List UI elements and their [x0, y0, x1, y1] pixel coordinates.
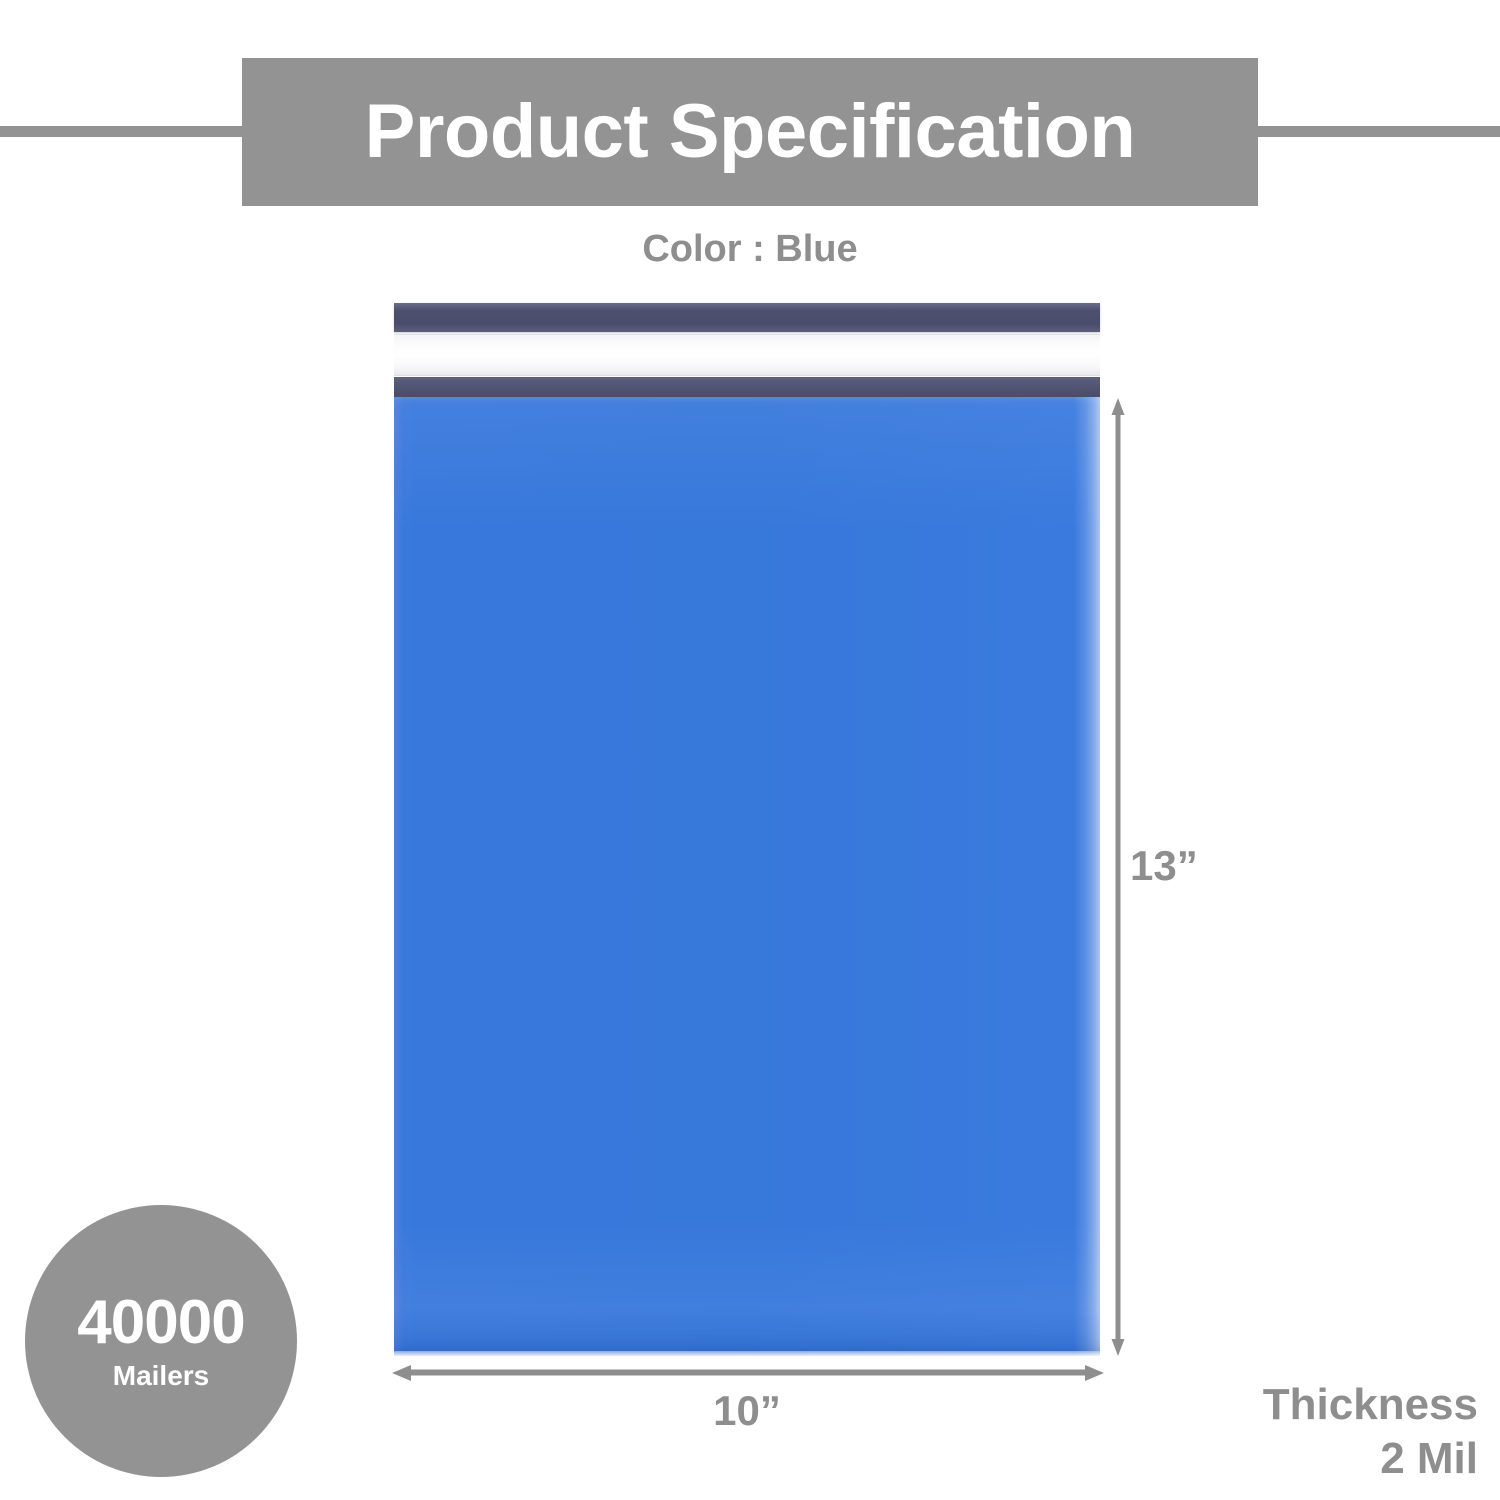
quantity-badge-count: 40000	[77, 1292, 244, 1354]
mailer-bag-illustration	[394, 303, 1100, 1356]
thickness-value: 2 Mil	[1263, 1432, 1478, 1486]
thickness-block: Thickness 2 Mil	[1263, 1378, 1478, 1485]
mailer-flap-top-strip	[394, 303, 1100, 332]
double-ended-vertical-arrow-icon	[1111, 398, 1125, 1356]
page-title: Product Specification	[365, 94, 1136, 170]
mailer-body-sheen	[394, 397, 1100, 1356]
color-spec-label: Color : Blue	[0, 228, 1500, 271]
width-dimension-arrow	[392, 1364, 1104, 1382]
quantity-badge-unit: Mailers	[113, 1362, 210, 1390]
thickness-label: Thickness	[1263, 1378, 1478, 1432]
mailer-flap-bottom-strip	[394, 377, 1100, 398]
mailer-adhesive-strip	[394, 334, 1100, 376]
height-dimension-arrow	[1111, 398, 1125, 1356]
mailer-bottom-edge	[394, 1351, 1100, 1356]
header-banner: Product Specification	[242, 58, 1258, 206]
double-ended-horizontal-arrow-icon	[392, 1364, 1104, 1382]
height-dimension-label: 13”	[1130, 845, 1198, 887]
header-rule-right	[1256, 126, 1500, 137]
width-dimension-label: 10”	[394, 1390, 1100, 1432]
header-rule-left	[0, 126, 244, 137]
product-specification-page: Product Specification Color : Blue 13” 1…	[0, 0, 1500, 1500]
mailer-body	[394, 397, 1100, 1356]
quantity-badge: 40000 Mailers	[25, 1205, 297, 1477]
